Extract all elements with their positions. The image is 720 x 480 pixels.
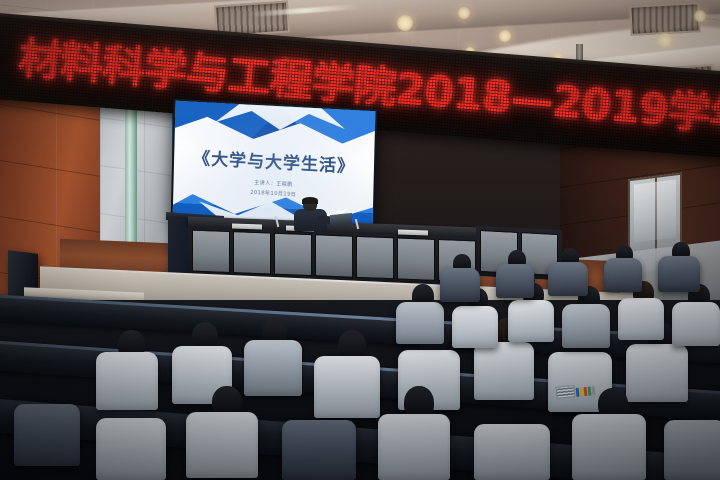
- auditorium-seat[interactable]: [96, 418, 166, 480]
- auditorium-seat[interactable]: [452, 306, 498, 348]
- laptop-icon: [330, 213, 352, 226]
- auditorium-seat[interactable]: [572, 414, 646, 480]
- table-nameplate: [232, 223, 262, 229]
- projection-screen-surface: 《大学与大学生活》 主讲人：王晓鹏 2018年10月19日: [173, 101, 376, 229]
- auditorium-seat[interactable]: [672, 302, 720, 346]
- auditorium-seat[interactable]: [186, 412, 258, 478]
- ceiling-downlight-icon: [694, 10, 706, 22]
- ceiling-downlight-icon: [397, 15, 413, 31]
- seated-speaker-hair: [302, 197, 318, 204]
- auditorium-seat[interactable]: [508, 300, 554, 342]
- auditorium-seat[interactable]: [96, 352, 158, 410]
- auditorium-seat[interactable]: [626, 344, 688, 402]
- auditorium-seat[interactable]: [244, 340, 302, 396]
- table-panel: [233, 231, 271, 274]
- ceiling-downlight-icon: [458, 7, 470, 19]
- auditorium-seat[interactable]: [14, 404, 80, 466]
- auditorium-seat[interactable]: [658, 256, 700, 292]
- ceiling-downlight-icon: [499, 30, 511, 42]
- lecture-hall-photo: 材料科学与工程学院2018—2019学年材子讲坛系列讲座 《大学与大学生活》 主…: [0, 0, 720, 480]
- auditorium-seat[interactable]: [496, 264, 534, 298]
- auditorium-seat[interactable]: [282, 420, 356, 480]
- projection-screen: 《大学与大学生活》 主讲人：王晓鹏 2018年10月19日: [171, 99, 378, 232]
- auditorium-seat[interactable]: [396, 302, 444, 344]
- door-glass-panel: [634, 179, 676, 242]
- auditorium-seat[interactable]: [314, 356, 380, 418]
- slide-title: 《大学与大学生活》: [174, 143, 374, 178]
- table-nameplate: [398, 229, 428, 235]
- auditorium-seat[interactable]: [474, 342, 534, 400]
- auditorium-seat[interactable]: [562, 304, 610, 348]
- ceiling-ac-vent: [629, 2, 700, 36]
- uniform-flag-patch-icon: [555, 385, 575, 399]
- auditorium-seat[interactable]: [548, 262, 588, 296]
- auditorium-seat[interactable]: [474, 424, 550, 480]
- auditorium-seat[interactable]: [604, 258, 642, 292]
- table-panel: [397, 237, 435, 280]
- table-panel: [192, 230, 230, 273]
- ceiling-downlight-icon: [658, 33, 672, 47]
- table-panel: [315, 234, 353, 277]
- auditorium-seat[interactable]: [378, 414, 450, 480]
- auditorium-seat[interactable]: [440, 268, 480, 302]
- auditorium-seat[interactable]: [664, 420, 720, 480]
- table-panel: [274, 233, 312, 276]
- table-panel: [356, 236, 394, 279]
- auditorium-seat[interactable]: [618, 298, 664, 340]
